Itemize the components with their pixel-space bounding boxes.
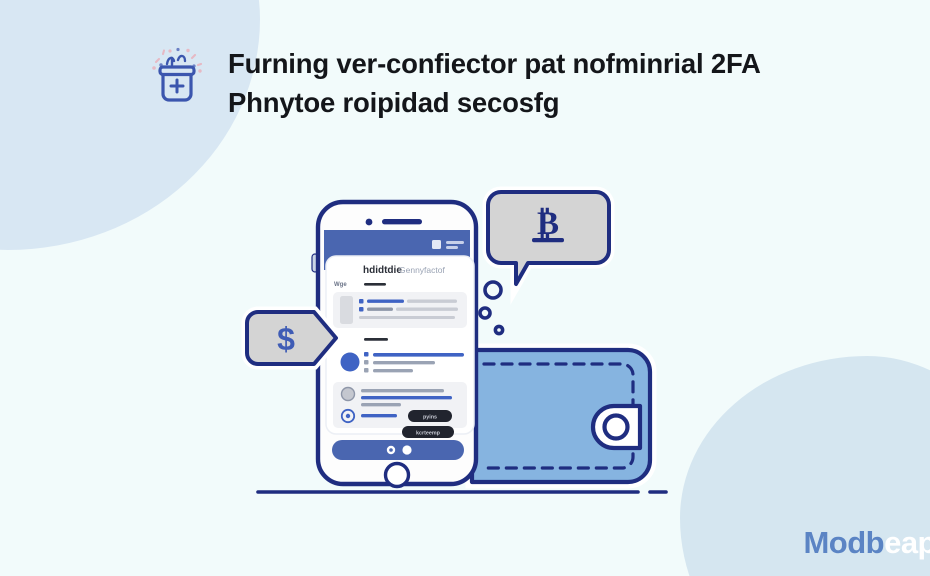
svg-text:Gennyfactof: Gennyfactof	[399, 265, 445, 275]
main-illustration: ₿	[236, 172, 676, 508]
wallet-illustration	[472, 350, 650, 482]
illustration-canvas: Furning ver-confiector pat nofminrial 2F…	[0, 0, 930, 576]
dollar-icon: $	[277, 321, 295, 357]
svg-text:kcrteemp: kcrteemp	[416, 431, 441, 437]
svg-text:Wge: Wge	[334, 282, 347, 288]
basket-plus-confetti-icon	[148, 46, 206, 108]
dollar-price-tag: $	[247, 312, 336, 364]
brand-logo: Modb eap	[803, 527, 930, 558]
background-blob-top-left	[0, 0, 260, 250]
svg-text:₿: ₿	[537, 206, 559, 242]
speech-bubble-trail	[480, 282, 503, 334]
svg-text:pyins: pyins	[423, 415, 437, 421]
brand-logo-part-two: eap	[884, 527, 930, 558]
svg-text:hdidtdie: hdidtdie	[363, 265, 402, 276]
bitcoin-speech-bubble: ₿	[488, 192, 609, 284]
page-title: Furning ver-confiector pat nofminrial 2F…	[228, 44, 761, 122]
headline-block: Furning ver-confiector pat nofminrial 2F…	[148, 44, 848, 122]
brand-logo-part-one: Modb	[803, 527, 884, 558]
